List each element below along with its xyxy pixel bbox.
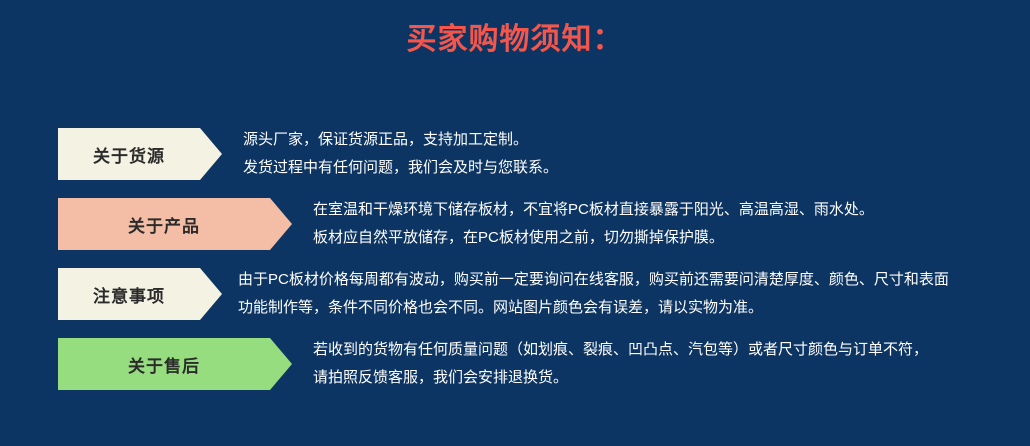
- buyer-notice-panel: 买家购物须知： 关于货源 源头厂家，保证货源正品，支持加工定制。 发货过程中有任…: [0, 0, 1030, 446]
- section-banner-label: 关于产品: [128, 212, 200, 237]
- body-line: 请拍照反馈客服，我们会安排退换货。: [313, 364, 928, 392]
- section-body-aftersales: 若收到的货物有任何质量问题（如划痕、裂痕、凹凸点、汽包等）或者尺寸颜色与订单不符…: [313, 336, 928, 392]
- body-line: 发货过程中有任何问题，我们会及时与您联系。: [243, 154, 558, 182]
- section-banner-label: 注意事项: [93, 282, 165, 307]
- section-body-source: 源头厂家，保证货源正品，支持加工定制。 发货过程中有任何问题，我们会及时与您联系…: [243, 126, 558, 182]
- notice-section-list: 关于货源 源头厂家，保证货源正品，支持加工定制。 发货过程中有任何问题，我们会及…: [0, 128, 1030, 408]
- body-line: 由于PC板材价格每周都有波动，购买前一定要询问在线客服，购买前还需要问清楚厚度、…: [238, 266, 949, 294]
- body-line: 功能制作等，条件不同价格也会不同。网站图片颜色会有误差，请以实物为准。: [238, 294, 949, 322]
- notice-row: 关于产品 在室温和干燥环境下储存板材，不宜将PC板材直接暴露于阳光、高温高湿、雨…: [0, 198, 1030, 250]
- body-line: 板材应自然平放储存，在PC板材使用之前，切勿撕掉保护膜。: [313, 224, 874, 252]
- notice-row: 关于售后 若收到的货物有任何质量问题（如划痕、裂痕、凹凸点、汽包等）或者尺寸颜色…: [0, 338, 1030, 390]
- section-banner-product: 关于产品: [58, 198, 292, 250]
- section-body-product: 在室温和干燥环境下储存板材，不宜将PC板材直接暴露于阳光、高温高湿、雨水处。 板…: [313, 196, 874, 252]
- notice-row: 关于货源 源头厂家，保证货源正品，支持加工定制。 发货过程中有任何问题，我们会及…: [0, 128, 1030, 180]
- page-title: 买家购物须知：: [0, 22, 1030, 58]
- body-line: 在室温和干燥环境下储存板材，不宜将PC板材直接暴露于阳光、高温高湿、雨水处。: [313, 196, 874, 224]
- section-banner-label: 关于货源: [93, 142, 165, 167]
- section-banner-aftersales: 关于售后: [58, 338, 292, 390]
- section-banner-attention: 注意事项: [58, 268, 222, 320]
- body-line: 若收到的货物有任何质量问题（如划痕、裂痕、凹凸点、汽包等）或者尺寸颜色与订单不符…: [313, 336, 928, 364]
- section-banner-label: 关于售后: [128, 352, 200, 377]
- section-body-attention: 由于PC板材价格每周都有波动，购买前一定要询问在线客服，购买前还需要问清楚厚度、…: [238, 266, 949, 322]
- notice-row: 注意事项 由于PC板材价格每周都有波动，购买前一定要询问在线客服，购买前还需要问…: [0, 268, 1030, 320]
- body-line: 源头厂家，保证货源正品，支持加工定制。: [243, 126, 558, 154]
- section-banner-source: 关于货源: [58, 128, 222, 180]
